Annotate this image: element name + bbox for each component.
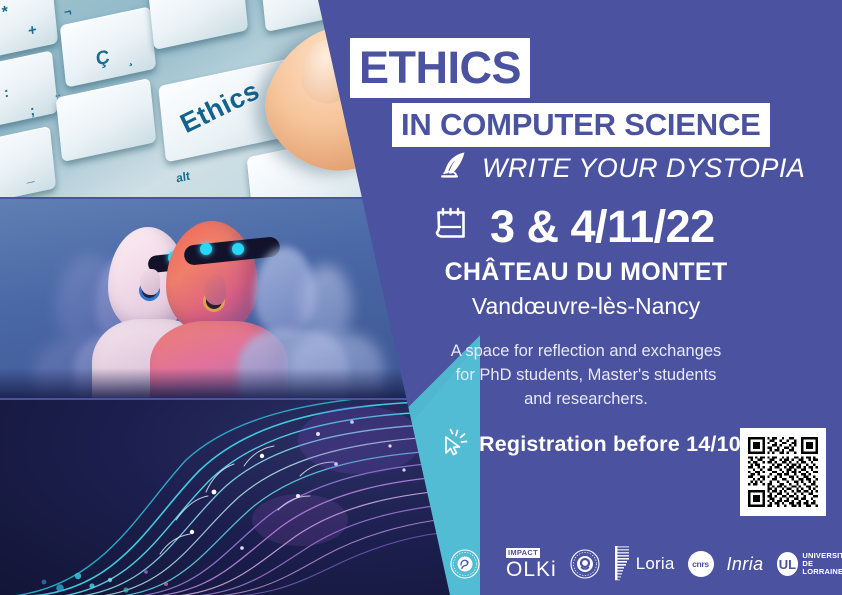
impact-label: IMPACT xyxy=(506,548,540,558)
olki-circle-logo xyxy=(570,549,600,579)
universite-de-lorraine-logo: UL UNIVERSITÉ DE LORRAINE xyxy=(777,552,842,576)
ul-line-2: DE LORRAINE xyxy=(802,560,842,576)
blurb-line-1: A space for reflection and exchanges xyxy=(330,340,842,364)
logo-bar: IMPACT OLKi xyxy=(450,540,832,588)
venue-name: CHÂTEAU DU MONTET xyxy=(330,258,842,287)
cnrs-logo: cnrs xyxy=(688,551,714,577)
page-subtitle: IN COMPUTER SCIENCE xyxy=(392,103,770,147)
ul-mark: UL xyxy=(777,552,799,576)
impact-olki-logo: IMPACT OLKi xyxy=(506,548,557,580)
emblem-seal-logo xyxy=(450,549,480,579)
click-cursor-icon xyxy=(442,428,468,461)
cnrs-label: cnrs xyxy=(688,551,714,577)
page-title: ETHICS xyxy=(350,38,530,98)
qr-code[interactable] xyxy=(740,428,826,516)
venue-city: Vandœuvre-lès-Nancy xyxy=(330,293,842,320)
poster-root: * + ¬ Ç ¸ : ; ¨ _ alt Ethics xyxy=(0,0,842,595)
date-row: 3 & 4/11/22 xyxy=(430,203,715,250)
title-block: ETHICS IN COMPUTER SCIENCE xyxy=(350,38,770,147)
loria-logo: Loria xyxy=(613,545,675,583)
inria-label: Inria xyxy=(727,554,764,575)
inria-logo: Inria xyxy=(727,554,764,575)
description-blurb: A space for reflection and exchanges for… xyxy=(330,340,842,412)
olki-label: OLKi xyxy=(506,559,557,580)
tagline-text: WRITE YOUR DYSTOPIA xyxy=(482,153,805,184)
feather-quill-icon xyxy=(438,150,470,187)
blurb-line-3: and researchers. xyxy=(330,388,842,412)
event-date: 3 & 4/11/22 xyxy=(490,204,715,249)
registration-row[interactable]: Registration before 14/10 xyxy=(442,428,741,461)
calendar-icon xyxy=(430,203,472,250)
content-column: ETHICS IN COMPUTER SCIENCE WRITE YOUR DY… xyxy=(330,0,842,595)
loria-label: Loria xyxy=(636,554,675,574)
blurb-line-2: for PhD students, Master's students xyxy=(330,364,842,388)
registration-text: Registration before 14/10 xyxy=(479,432,741,457)
tagline: WRITE YOUR DYSTOPIA xyxy=(438,150,805,187)
